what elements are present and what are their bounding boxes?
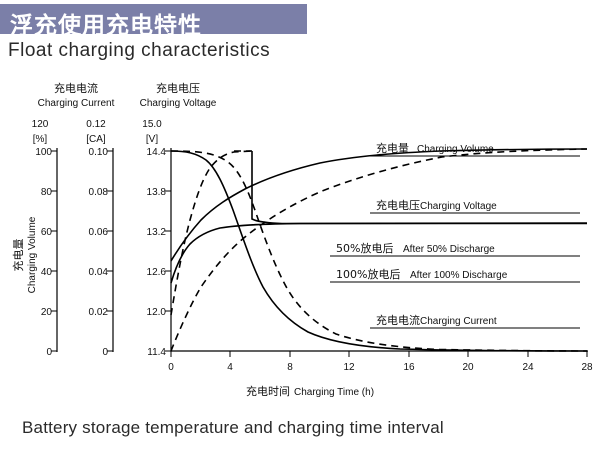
annotation-after-50-discharge: 50%放电后 After 50% Discharge xyxy=(330,241,580,256)
yaxis-label-volume-cn: 充电量 xyxy=(11,239,25,272)
tick-volume-40: 40 xyxy=(41,267,53,278)
annotation-after-100-en: After 100% Discharge xyxy=(410,270,508,281)
tick-volume-0: 0 xyxy=(46,347,52,358)
axis-title-voltage-cn: 充电电压 xyxy=(156,81,200,95)
tick-current-008: 0.08 xyxy=(89,187,109,198)
tick-voltage-114: 11.4 xyxy=(147,347,166,358)
page-title-en: Float charging characteristics xyxy=(8,40,270,62)
annotation-charging-voltage: 充电电压 Charging Voltage xyxy=(370,198,580,213)
tick-current-010: 0.10 xyxy=(89,147,109,158)
footer-caption: Battery storage temperature and charging… xyxy=(22,418,444,438)
tick-voltage-138: 13.8 xyxy=(147,187,167,198)
annotation-charging-volume-cn: 充电量 xyxy=(376,141,409,155)
axis-unit-current: [CA] xyxy=(86,134,106,145)
axis-scale-volume: 100 80 60 40 20 0 xyxy=(35,147,57,358)
tick-volume-60: 60 xyxy=(41,227,53,238)
xaxis-label-en: Charging Time (h) xyxy=(294,387,374,398)
axis-x: 0 4 8 12 16 20 24 28 充电时间 Charging Time … xyxy=(168,351,593,398)
annotation-after-50-en: After 50% Discharge xyxy=(403,244,495,255)
tick-voltage-144: 14.4 xyxy=(147,147,167,158)
axis-title-current-en: Charging Current xyxy=(38,98,115,109)
xtick-12: 12 xyxy=(343,362,355,373)
tick-voltage-120: 12.0 xyxy=(147,307,167,318)
xtick-16: 16 xyxy=(403,362,415,373)
tick-volume-100: 100 xyxy=(35,147,52,158)
tick-current-004: 0.04 xyxy=(89,267,109,278)
tick-voltage-132: 13.2 xyxy=(147,227,167,238)
axis-tick-voltage-150: 15.0 xyxy=(142,119,162,130)
yaxis-label-volume-en: Charging Volume xyxy=(27,216,38,293)
annotation-charging-voltage-en: Charging Voltage xyxy=(420,201,497,212)
axis-tick-current-012: 0.12 xyxy=(86,119,106,130)
tick-voltage-126: 12.6 xyxy=(147,267,167,278)
tick-current-006: 0.06 xyxy=(89,227,109,238)
chart-svg: 充电电流 Charging Current 充电电压 Charging Volt… xyxy=(0,70,600,410)
annotation-charging-voltage-cn: 充电电压 xyxy=(376,198,420,212)
axis-scale-voltage: 14.4 13.8 13.2 12.6 12.0 11.4 xyxy=(147,147,171,358)
xtick-20: 20 xyxy=(462,362,474,373)
annotation-charging-current-en: Charging Current xyxy=(420,316,497,327)
page-title-cn: 浮充使用充电特性 xyxy=(10,6,202,40)
axis-tick-volume-120: 120 xyxy=(32,119,49,130)
axis-unit-volume: [%] xyxy=(33,134,48,145)
axis-title-voltage-en: Charging Voltage xyxy=(140,98,217,109)
annotation-charging-current-cn: 充电电流 xyxy=(376,313,420,327)
annotation-charging-volume-en: Charging Volume xyxy=(417,144,494,155)
xtick-0: 0 xyxy=(168,362,174,373)
tick-volume-20: 20 xyxy=(41,307,53,318)
annotation-charging-current: 充电电流 Charging Current xyxy=(370,313,580,328)
axis-unit-voltage: [V] xyxy=(146,134,158,145)
tick-current-0: 0 xyxy=(102,347,108,358)
axis-title-current-cn: 充电电流 xyxy=(54,81,98,95)
annotation-after-100-discharge: 100%放电后 After 100% Discharge xyxy=(330,267,580,282)
xtick-24: 24 xyxy=(522,362,534,373)
annotation-after-50-cn: 50%放电后 xyxy=(336,241,393,255)
xaxis-label-cn: 充电时间 xyxy=(246,384,290,398)
annotation-after-100-cn: 100%放电后 xyxy=(336,267,400,281)
tick-current-002: 0.02 xyxy=(89,307,109,318)
xtick-28: 28 xyxy=(581,362,593,373)
xtick-8: 8 xyxy=(287,362,293,373)
tick-volume-80: 80 xyxy=(41,187,53,198)
axis-scale-current: 0.10 0.08 0.06 0.04 0.02 0 xyxy=(89,147,113,358)
chart-container: 充电电流 Charging Current 充电电压 Charging Volt… xyxy=(0,70,600,410)
xtick-4: 4 xyxy=(227,362,233,373)
